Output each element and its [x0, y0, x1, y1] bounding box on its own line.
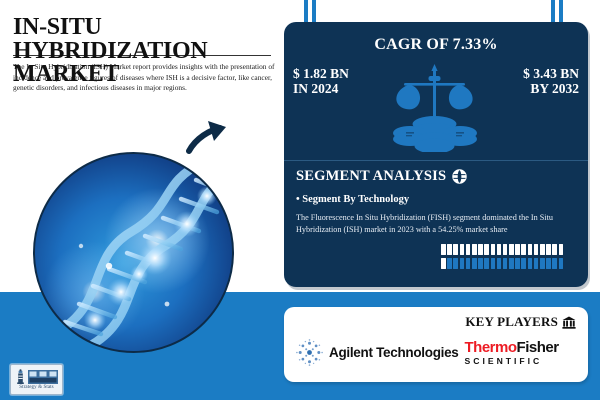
waffle-cell [540, 258, 545, 269]
waffle-cell [441, 258, 446, 269]
waffle-cell [559, 258, 564, 269]
metrics-panel: CAGR OF 7.33% $ 1.82 BN IN 2024 $ 3.43 B… [284, 22, 588, 287]
waffle-cell [503, 258, 508, 269]
waffle-cell [497, 258, 502, 269]
waffle-cell [509, 244, 514, 255]
publisher-logo-row [15, 369, 58, 384]
waffle-cell [478, 244, 483, 255]
brand-agilent[interactable]: Agilent Technologies [296, 339, 459, 366]
waffle-cell [447, 258, 452, 269]
waffle-cell [546, 258, 551, 269]
publisher-logo-badge: Strategy & Stats [10, 364, 63, 395]
brand-thermofisher-thermo: Thermo [465, 339, 517, 356]
market-value-2032-amount: $ 3.43 BN [523, 66, 579, 81]
key-players-heading: KEY PLAYERS [465, 314, 576, 330]
bank-building-icon [562, 316, 576, 329]
waffle-cell [515, 258, 520, 269]
waffle-cell [503, 244, 508, 255]
waffle-cell [453, 244, 458, 255]
publisher-name: Strategy & Stats [19, 385, 53, 390]
segment-analysis-heading-text: SEGMENT ANALYSIS [296, 168, 446, 185]
segment-analysis-heading: SEGMENT ANALYSIS [296, 168, 467, 185]
waffle-cell [460, 244, 465, 255]
waffle-cell [460, 258, 465, 269]
waffle-cell [491, 258, 496, 269]
waffle-cell [466, 244, 471, 255]
brand-thermofisher-wordmark: ThermoFisher [465, 340, 559, 355]
waffle-cell [447, 244, 452, 255]
market-share-waffle-chart [441, 244, 563, 269]
chart-blocks-icon [28, 370, 58, 384]
balance-scale-coins-icon [390, 60, 482, 152]
waffle-cell [528, 258, 533, 269]
waffle-cell [497, 244, 502, 255]
waffle-cell [552, 258, 557, 269]
waffle-cell [484, 244, 489, 255]
waffle-cell [478, 258, 483, 269]
waffle-cell [509, 258, 514, 269]
panel-divider [284, 160, 588, 161]
segment-subheading: • Segment By Technology [296, 194, 409, 205]
waffle-cell [484, 258, 489, 269]
waffle-cell [515, 244, 520, 255]
lighthouse-icon [15, 369, 26, 384]
waffle-row [441, 244, 563, 255]
waffle-cell [521, 244, 526, 255]
waffle-cell [472, 258, 477, 269]
waffle-cell [540, 244, 545, 255]
globe-icon [452, 169, 467, 184]
infographic-canvas: IN-SITU HYBRIDIZATION MARKET The In Situ… [0, 0, 600, 400]
report-description: The In Situ Hybridization (ISH) Market r… [13, 62, 275, 94]
cagr-value: CAGR OF 7.33% [284, 36, 588, 54]
brand-thermofisher-scientific: SCIENTIFIC [465, 357, 559, 366]
waffle-cell [559, 244, 564, 255]
title-divider [13, 55, 271, 56]
waffle-cell [534, 258, 539, 269]
market-value-2032-year: BY 2032 [523, 81, 579, 96]
dna-double-helix-icon [35, 154, 232, 351]
key-players-logos: Agilent Technologies ThermoFisher SCIENT… [284, 339, 588, 366]
left-column: IN-SITU HYBRIDIZATION MARKET The In Situ… [0, 0, 284, 400]
agilent-starburst-icon [296, 339, 323, 366]
market-value-2024-year: IN 2024 [293, 81, 349, 96]
brand-agilent-name: Agilent Technologies [329, 345, 459, 360]
waffle-cell [491, 244, 496, 255]
market-value-2024: $ 1.82 BN IN 2024 [293, 66, 349, 96]
waffle-cell [546, 244, 551, 255]
waffle-cell [441, 244, 446, 255]
brand-thermofisher-fisher: Fisher [517, 339, 559, 356]
growth-arrow-icon [186, 118, 230, 158]
brand-thermofisher[interactable]: ThermoFisher SCIENTIFIC [465, 340, 559, 366]
waffle-cell [552, 244, 557, 255]
waffle-cell [472, 244, 477, 255]
waffle-cell [528, 244, 533, 255]
waffle-cell [534, 244, 539, 255]
market-value-2032: $ 3.43 BN BY 2032 [523, 66, 579, 96]
waffle-cell [521, 258, 526, 269]
waffle-cell [453, 258, 458, 269]
waffle-cell [466, 258, 471, 269]
key-players-heading-text: KEY PLAYERS [465, 314, 558, 330]
segment-description: The Fluorescence In Situ Hybridization (… [296, 212, 579, 237]
waffle-row [441, 258, 563, 269]
market-value-2024-amount: $ 1.82 BN [293, 66, 349, 81]
dna-image-circle [33, 152, 234, 353]
key-players-card: KEY PLAYERS [284, 307, 588, 382]
